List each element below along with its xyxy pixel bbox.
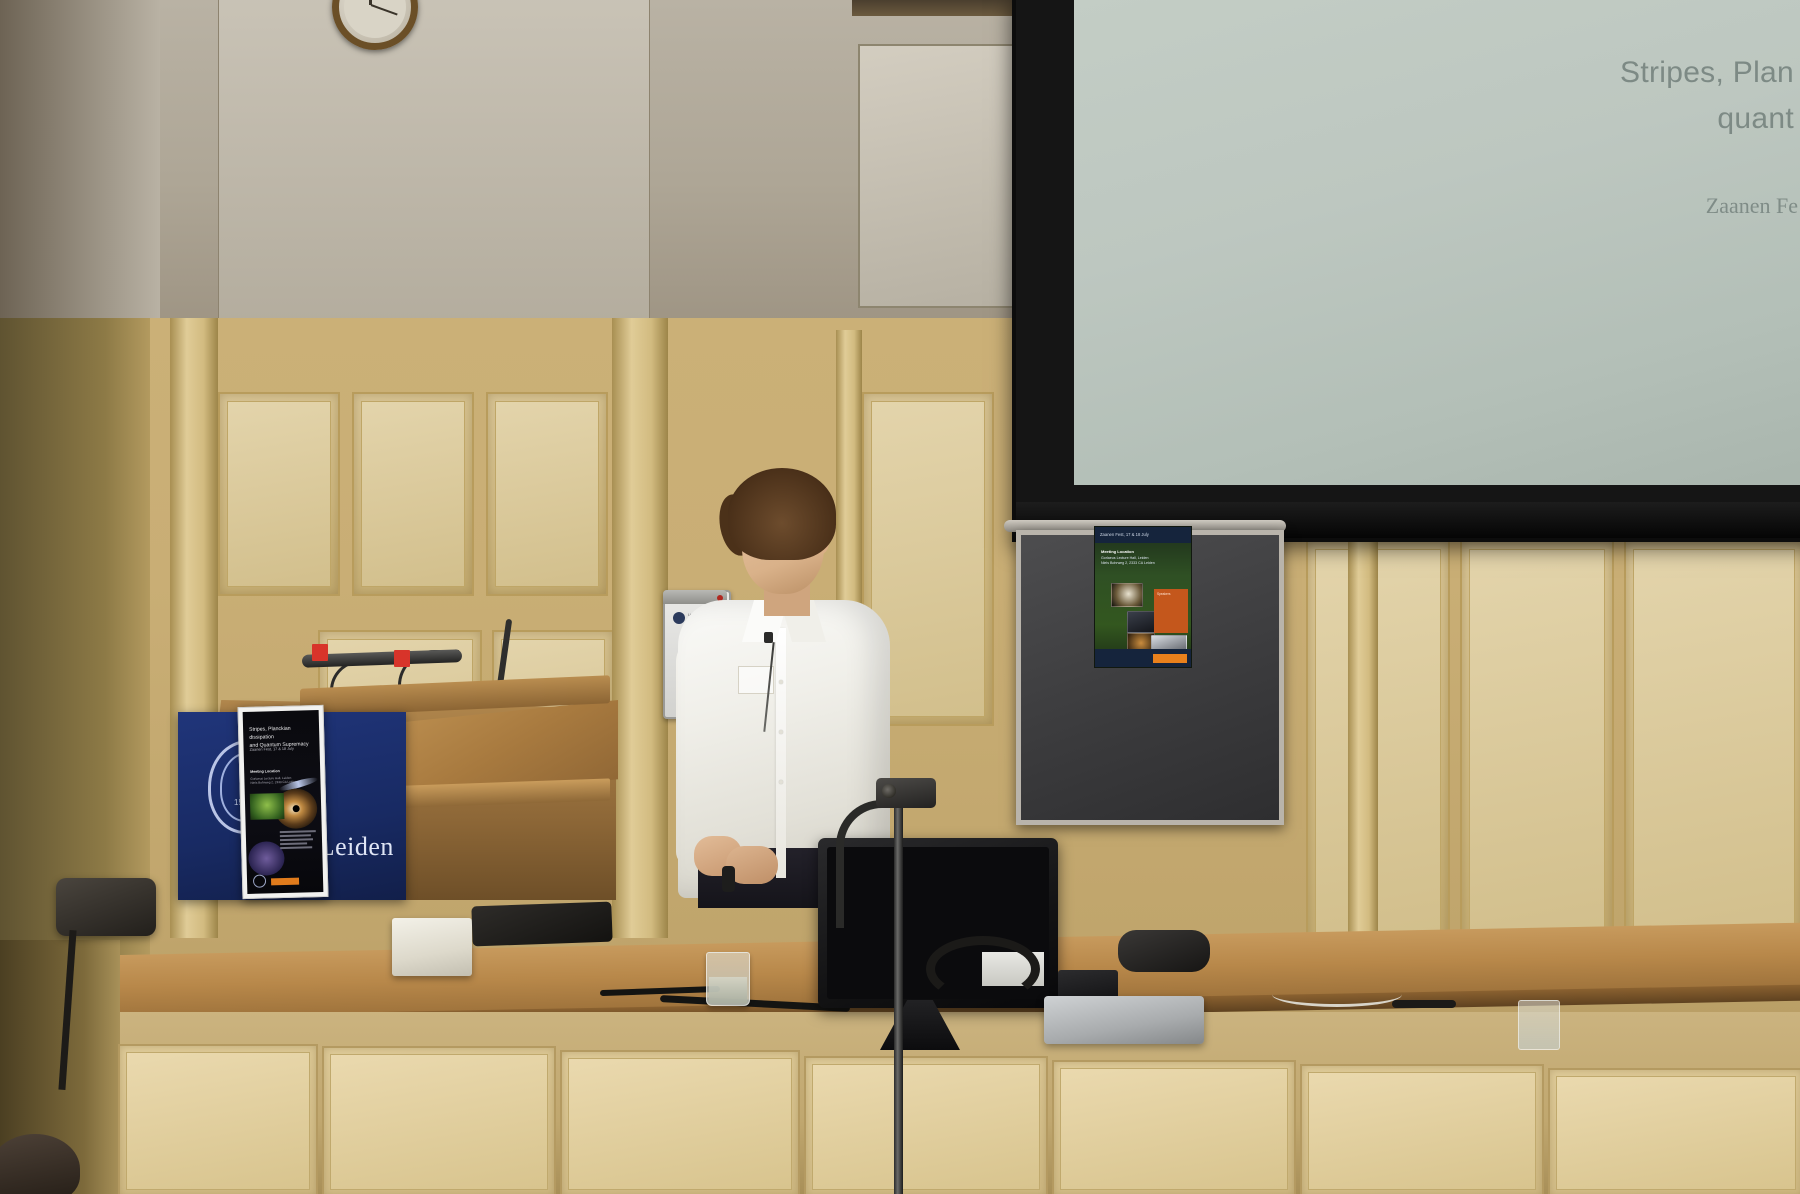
podium-poster-date: Zaanen Fest, 17 & 18 July bbox=[250, 747, 294, 752]
water-glass-secondary bbox=[1518, 1000, 1560, 1050]
pen bbox=[1392, 1000, 1456, 1008]
speaker-hair bbox=[728, 468, 836, 560]
cabinet-panel bbox=[1300, 1064, 1544, 1194]
water-glass-contents bbox=[709, 977, 747, 1003]
wall-pilaster bbox=[612, 318, 668, 938]
wall-panel-inset bbox=[1633, 549, 1795, 935]
wall-poster-image-galaxy bbox=[1111, 583, 1143, 607]
wall-panel-inset bbox=[227, 401, 331, 587]
headset bbox=[926, 936, 1040, 1002]
projection-screen: Stripes, Plan quant Zaanen Fe bbox=[1012, 0, 1800, 542]
slide-title: Stripes, Plan quant bbox=[1620, 50, 1794, 142]
shirt-button bbox=[779, 680, 783, 684]
keyboard bbox=[471, 902, 612, 947]
wall-panel-inset bbox=[495, 401, 599, 587]
water-glass bbox=[706, 952, 750, 1006]
wall-panel bbox=[218, 392, 340, 596]
cabinet-inset bbox=[1556, 1076, 1796, 1190]
wall-panel bbox=[486, 392, 608, 596]
slide-title-line1: Stripes, Plan bbox=[1620, 50, 1794, 96]
poster-text-line bbox=[280, 834, 311, 836]
cabinet-panel bbox=[322, 1046, 556, 1194]
wall-poster-image-a bbox=[1127, 611, 1155, 633]
white-box bbox=[392, 918, 472, 976]
wall-panel-inset bbox=[1469, 549, 1605, 935]
cabinet-inset bbox=[1308, 1072, 1536, 1190]
poster-text-line bbox=[280, 842, 307, 844]
wall-panel bbox=[1460, 540, 1614, 944]
podium-poster-photo bbox=[250, 793, 285, 820]
podium-poster-text-lines bbox=[280, 830, 317, 851]
wall-panel bbox=[1624, 540, 1800, 944]
cabinet-inset bbox=[330, 1054, 548, 1190]
cabinet-inset bbox=[1060, 1068, 1288, 1190]
microphone-tag bbox=[394, 650, 410, 667]
wall-poster-heading: Meeting Location bbox=[1101, 549, 1134, 554]
wall-poster-meeting: Meeting Location Gorlaeus Lecture Hall, … bbox=[1101, 549, 1185, 567]
wall-poster-panel-heading: Speakers bbox=[1154, 589, 1188, 599]
cabinet-panel bbox=[118, 1044, 318, 1194]
cable-tray bbox=[1044, 996, 1204, 1044]
wall-poster-register-button bbox=[1153, 654, 1187, 663]
cabinet-panel bbox=[1548, 1068, 1800, 1194]
lecture-hall-photo: Stripes, Plan quant Zaanen Fe Zaanen Fes… bbox=[0, 0, 1800, 1194]
podium-poster: Stripes, Planckian dissipation and Quant… bbox=[238, 705, 329, 899]
wall-poster-loc2: Niels Bohrweg 2, 2333 CA Leiden bbox=[1101, 561, 1155, 565]
wall-poster-loc1: Gorlaeus Lecture Hall, Leiden bbox=[1101, 556, 1149, 560]
poster-text-line bbox=[280, 846, 312, 848]
wall-panel-inset bbox=[1315, 549, 1441, 935]
podium-poster-title-line1: Stripes, Planckian dissipation bbox=[249, 724, 315, 742]
wall-pilaster bbox=[1348, 520, 1378, 940]
door-header bbox=[852, 0, 1020, 16]
cabinet-panel bbox=[560, 1050, 800, 1194]
podium-poster-seal-icon bbox=[253, 874, 266, 887]
shirt-button bbox=[779, 780, 783, 784]
loose-cables bbox=[1272, 982, 1402, 1007]
wall-panel-inset bbox=[361, 401, 465, 587]
camera-bag bbox=[56, 878, 156, 936]
cabinet-inset bbox=[568, 1058, 792, 1190]
wall-poster-header: Zaanen Fest, 17 & 18 July bbox=[1095, 527, 1191, 543]
wall-poster: Zaanen Fest, 17 & 18 July Meeting Locati… bbox=[1094, 526, 1192, 668]
microphone-tag bbox=[312, 644, 328, 661]
wall-poster-panel: Speakers bbox=[1154, 589, 1188, 633]
shirt-placket bbox=[776, 628, 786, 878]
poster-text-line bbox=[280, 838, 313, 840]
mouse bbox=[1118, 930, 1210, 972]
camera-stand-pole bbox=[894, 790, 903, 1194]
wall-panel bbox=[1306, 540, 1450, 944]
lapel-microphone bbox=[764, 632, 773, 643]
wall-panel bbox=[352, 392, 474, 596]
cabinet-inset bbox=[126, 1052, 310, 1190]
slide-author: Zaanen Fe bbox=[1706, 193, 1798, 219]
podium-poster-heading: Meeting Location bbox=[250, 769, 280, 774]
projection-screen-surface: Stripes, Plan quant Zaanen Fe bbox=[1074, 0, 1800, 485]
shirt-button bbox=[779, 730, 783, 734]
presentation-clicker bbox=[722, 866, 735, 892]
poster-text-line bbox=[280, 830, 316, 833]
whiteboard-left bbox=[218, 0, 650, 324]
camera-lens-icon bbox=[882, 784, 896, 798]
upper-wall-shadow bbox=[0, 0, 160, 330]
cabinet-inset bbox=[812, 1064, 1040, 1190]
cabinet-panel bbox=[1052, 1060, 1296, 1194]
wall-poster-date: Zaanen Fest, 17 & 18 July bbox=[1095, 527, 1191, 537]
blackhole-core bbox=[293, 805, 300, 812]
slide-title-line2: quant bbox=[1620, 96, 1794, 142]
cabinet-panel bbox=[804, 1056, 1048, 1194]
podium-poster-inner: Stripes, Planckian dissipation and Quant… bbox=[243, 710, 324, 894]
podium-poster-register-button bbox=[271, 878, 299, 886]
